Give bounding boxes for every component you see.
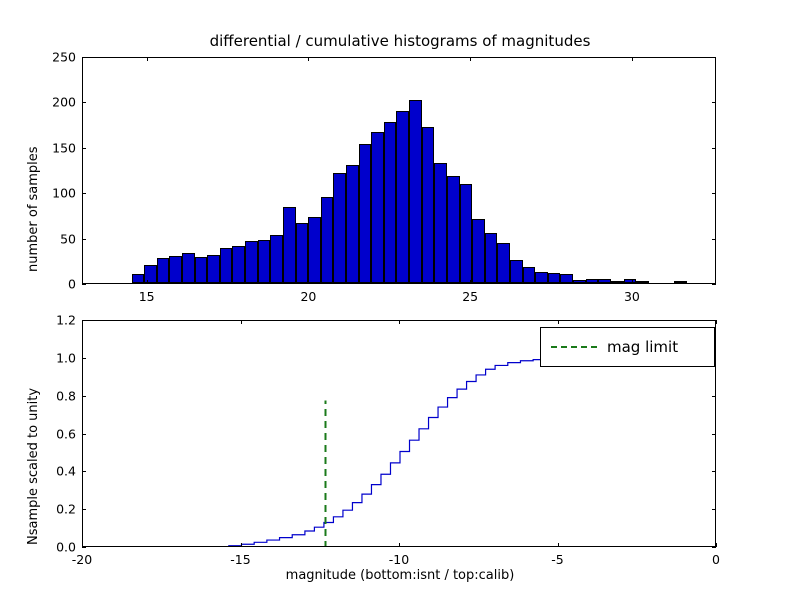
histogram-ylabel: number of samples: [26, 146, 41, 272]
x-tick: [399, 320, 400, 324]
y-tick: [712, 547, 716, 548]
y-tick: [712, 509, 716, 510]
histogram-bar: [573, 280, 586, 283]
histogram-bar: [333, 173, 346, 283]
cumulative-ylabel: Nsample scaled to unity: [26, 388, 41, 545]
y-tick: [712, 396, 716, 397]
chart-title: differential / cumulative histograms of …: [0, 32, 800, 50]
histogram-bar: [434, 163, 447, 283]
x-tick-label: -15: [230, 552, 250, 567]
y-tick-label: 1.0: [40, 350, 76, 365]
y-tick: [712, 102, 716, 103]
histogram-bar: [308, 217, 321, 283]
histogram-bar: [157, 258, 170, 283]
histogram-bar: [510, 260, 523, 283]
y-tick-label: 0.8: [40, 388, 76, 403]
x-tick-label: 15: [139, 289, 155, 304]
x-axis-label: magnitude (bottom:isnt / top:calib): [0, 568, 800, 583]
x-tick-label: 25: [462, 289, 478, 304]
histogram-bar: [560, 274, 573, 283]
x-tick: [147, 57, 148, 61]
histogram-bar: [296, 223, 309, 283]
histogram-bar: [258, 240, 271, 283]
histogram-bar: [169, 256, 182, 283]
y-tick-label: 0.0: [40, 540, 76, 555]
histogram-bar: [270, 235, 283, 283]
y-tick: [82, 148, 86, 149]
histogram-bar: [460, 184, 473, 283]
histogram-bar: [422, 127, 435, 283]
y-tick: [82, 547, 86, 548]
y-tick: [712, 148, 716, 149]
x-tick: [308, 57, 309, 61]
y-tick-label: 0.4: [40, 464, 76, 479]
legend: mag limit: [540, 327, 715, 367]
x-tick: [558, 320, 559, 324]
y-tick-label: 150: [40, 140, 76, 155]
y-tick: [82, 509, 86, 510]
histogram-bar: [182, 253, 195, 283]
histogram-bar: [586, 279, 599, 283]
histogram-bar: [396, 111, 409, 283]
histogram-bar: [611, 281, 624, 283]
y-tick: [712, 434, 716, 435]
histogram-bar: [636, 281, 649, 283]
y-tick: [712, 239, 716, 240]
y-tick-label: 0.2: [40, 502, 76, 517]
y-tick: [712, 284, 716, 285]
x-tick-label: -5: [551, 552, 563, 567]
cumulative-line: [83, 359, 715, 546]
y-tick: [82, 434, 86, 435]
histogram-bar: [245, 241, 258, 283]
y-tick: [82, 284, 86, 285]
x-tick: [147, 280, 148, 284]
histogram-bar: [497, 243, 510, 283]
legend-dash-icon: [551, 346, 597, 348]
y-tick: [712, 193, 716, 194]
y-tick: [712, 57, 716, 58]
y-tick: [82, 193, 86, 194]
histogram-bar: [548, 273, 561, 283]
histogram-axes: [82, 57, 716, 284]
x-tick: [308, 280, 309, 284]
x-tick: [399, 543, 400, 547]
histogram-bar: [359, 144, 372, 283]
histogram-bar: [195, 257, 208, 283]
x-tick: [632, 280, 633, 284]
figure: differential / cumulative histograms of …: [0, 0, 800, 600]
histogram-bar: [232, 246, 245, 283]
x-tick-label: -10: [389, 552, 409, 567]
histogram-bar: [132, 274, 145, 283]
y-tick: [82, 320, 86, 321]
histogram-bar: [535, 272, 548, 283]
histogram-bar: [447, 176, 460, 283]
histogram-bar: [523, 267, 536, 283]
legend-label-mag-limit: mag limit: [607, 338, 678, 356]
histogram-bar: [207, 255, 220, 283]
y-tick-label: 1.2: [40, 313, 76, 328]
x-tick-label: 30: [624, 289, 640, 304]
x-tick: [716, 543, 717, 547]
histogram-bar: [346, 165, 359, 283]
x-tick: [558, 543, 559, 547]
histogram-bar: [485, 233, 498, 283]
y-tick-label: 0.6: [40, 426, 76, 441]
y-tick: [82, 471, 86, 472]
histogram-bar: [220, 248, 233, 283]
y-tick-label: 200: [40, 95, 76, 110]
histogram-bar: [283, 207, 296, 283]
y-tick-label: 50: [40, 231, 76, 246]
histogram-bar: [371, 132, 384, 283]
histogram-bar: [624, 279, 637, 283]
x-tick-label: 20: [300, 289, 316, 304]
x-tick: [241, 543, 242, 547]
x-tick: [716, 320, 717, 324]
y-tick: [712, 320, 716, 321]
y-tick-label: 250: [40, 50, 76, 65]
y-tick: [82, 239, 86, 240]
histogram-bar: [472, 219, 485, 283]
y-tick: [82, 358, 86, 359]
x-tick: [241, 320, 242, 324]
x-tick: [470, 280, 471, 284]
histogram-bar: [598, 279, 611, 283]
histogram-bar: [321, 197, 334, 283]
x-tick: [632, 57, 633, 61]
histogram-bar: [384, 122, 397, 283]
y-tick: [82, 396, 86, 397]
y-tick: [82, 57, 86, 58]
histogram-plot-area: [83, 58, 715, 283]
y-tick: [712, 471, 716, 472]
y-tick: [82, 102, 86, 103]
histogram-bar: [674, 281, 687, 283]
y-tick-label: 0: [40, 277, 76, 292]
x-tick-label: 0: [712, 552, 720, 567]
y-tick-label: 100: [40, 186, 76, 201]
histogram-bar: [409, 100, 422, 283]
x-tick: [470, 57, 471, 61]
